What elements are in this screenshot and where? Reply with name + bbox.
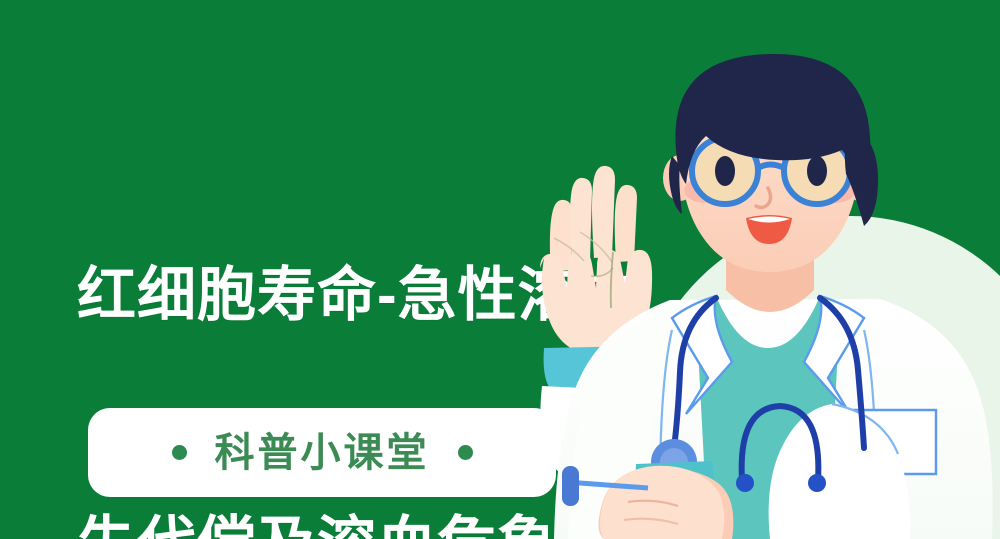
pupil-left <box>715 156 735 186</box>
dot-left-icon <box>172 445 187 460</box>
pen-clip <box>562 466 579 506</box>
category-badge[interactable]: 科普小课堂 <box>88 408 556 497</box>
pupil-right <box>807 156 827 186</box>
poster-canvas: 红细胞寿命-急性溶血 失代偿及溶血危象的 救命指标 科普小课堂 <box>0 0 1000 539</box>
category-badge-label: 科普小课堂 <box>215 433 430 473</box>
dot-right-icon <box>458 445 473 460</box>
doctor-illustration <box>520 0 1000 539</box>
